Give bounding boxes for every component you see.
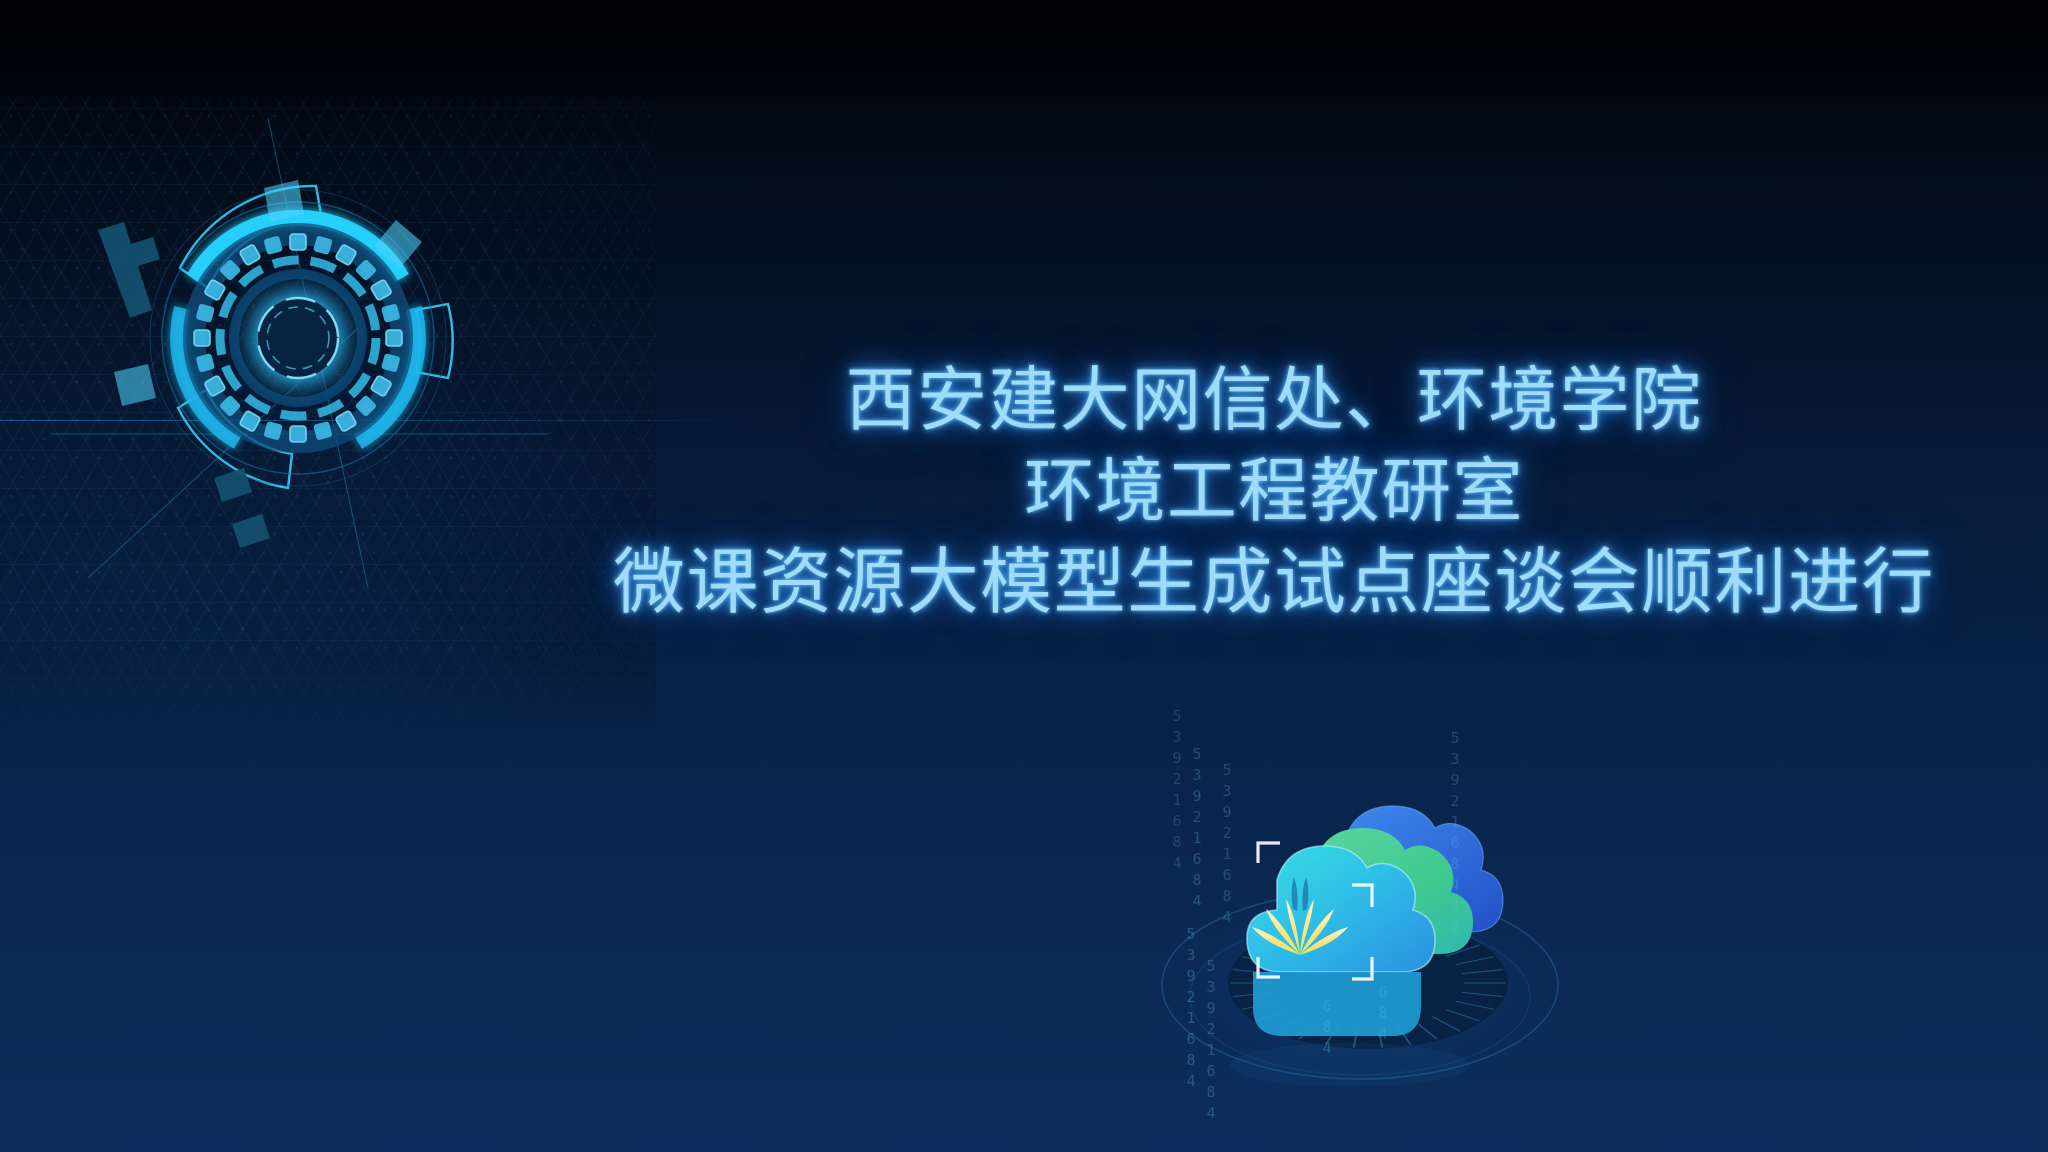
cloud-shadow (1230, 1043, 1470, 1087)
digit-stream: 684 (1374, 983, 1392, 1046)
digit-stream: 53921684 (1188, 745, 1206, 913)
digit-stream: 684 (1318, 997, 1336, 1060)
title-line-2: 环境工程教研室 (500, 446, 2048, 537)
digit-stream: 5392168432 (1446, 729, 1464, 939)
digit-stream: 53921684 (1218, 761, 1236, 929)
banner-root: 西安建大网信处、环境学院 环境工程教研室 微课资源大模型生成试点座谈会顺利进行 (0, 0, 2048, 1152)
top-dark-band (0, 0, 2048, 100)
tech-hud-circle-graphic (50, 110, 550, 590)
title-line-3: 微课资源大模型生成试点座谈会顺利进行 (500, 537, 2048, 631)
title-line-1: 西安建大网信处、环境学院 (500, 355, 2048, 446)
page-title: 西安建大网信处、环境学院 环境工程教研室 微课资源大模型生成试点座谈会顺利进行 (500, 355, 2048, 631)
digit-stream: 53921684 (1182, 925, 1200, 1093)
isometric-cloud-illustration: 53921684 53921684 53921684 5392168432 53… (1130, 735, 1590, 1135)
digit-stream: 53921684 (1168, 707, 1186, 875)
digit-stream: 53921684 (1202, 957, 1220, 1125)
